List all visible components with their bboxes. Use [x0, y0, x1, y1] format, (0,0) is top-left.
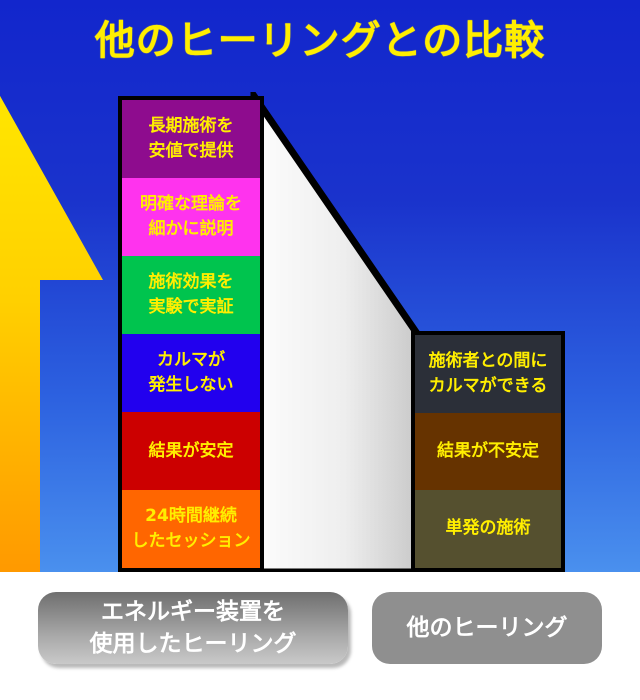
left-cell-6-line-2: したセッション: [132, 529, 251, 554]
left-cell-1-line-2: 安値で提供: [149, 139, 234, 164]
left-cell-6-line-1: 24時間継続: [145, 504, 237, 529]
slide-canvas: 他のヒーリングとの比較 長期施術を 安値で提供 明確な理論を 細かに説明 施術効…: [0, 0, 640, 700]
legend-left-line-1: エネルギー装置を: [101, 596, 285, 628]
left-cell-5-line-1: 結果が安定: [149, 439, 234, 464]
legend-right-line-1: 他のヒーリング: [407, 612, 568, 644]
left-cell-1: 長期施術を 安値で提供: [122, 100, 260, 178]
page-title: 他のヒーリングとの比較: [0, 16, 640, 66]
left-cell-4: カルマが 発生しない: [122, 334, 260, 412]
right-cell-3: 単発の施術: [415, 490, 561, 568]
left-cell-3-line-2: 実験で実証: [149, 295, 234, 320]
right-cell-2: 結果が不安定: [415, 413, 561, 491]
right-cell-1-line-1: 施術者との間に: [429, 349, 548, 374]
legend-energy-device: エネルギー装置を 使用したヒーリング: [38, 592, 348, 664]
left-cell-2: 明確な理論を 細かに説明: [122, 178, 260, 256]
right-cell-1: 施術者との間に カルマができる: [415, 335, 561, 413]
left-cell-2-line-1: 明確な理論を: [140, 192, 242, 217]
left-cell-4-line-2: 発生しない: [149, 373, 234, 398]
upward-growth-arrow: [0, 78, 110, 572]
left-cell-6: 24時間継続 したセッション: [122, 490, 260, 568]
left-cell-4-line-1: カルマが: [157, 348, 225, 373]
right-cell-3-line-1: 単発の施術: [446, 516, 531, 541]
right-cell-1-line-2: カルマができる: [429, 374, 548, 399]
legend-left-line-2: 使用したヒーリング: [90, 628, 297, 660]
three-d-side-face: [250, 92, 425, 572]
slide-background-panel: 他のヒーリングとの比較 長期施術を 安値で提供 明確な理論を 細かに説明 施術効…: [0, 0, 640, 572]
left-cell-5: 結果が安定: [122, 412, 260, 490]
left-cell-2-line-2: 細かに説明: [149, 217, 234, 242]
left-cell-1-line-1: 長期施術を: [149, 114, 234, 139]
left-cell-3-line-1: 施術効果を: [149, 270, 234, 295]
energy-device-column: 長期施術を 安値で提供 明確な理論を 細かに説明 施術効果を 実験で実証 カルマ…: [118, 96, 264, 572]
legend-other-healing: 他のヒーリング: [372, 592, 602, 664]
other-healing-column: 施術者との間に カルマができる 結果が不安定 単発の施術: [411, 331, 565, 572]
right-cell-2-line-1: 結果が不安定: [437, 439, 539, 464]
left-cell-3: 施術効果を 実験で実証: [122, 256, 260, 334]
